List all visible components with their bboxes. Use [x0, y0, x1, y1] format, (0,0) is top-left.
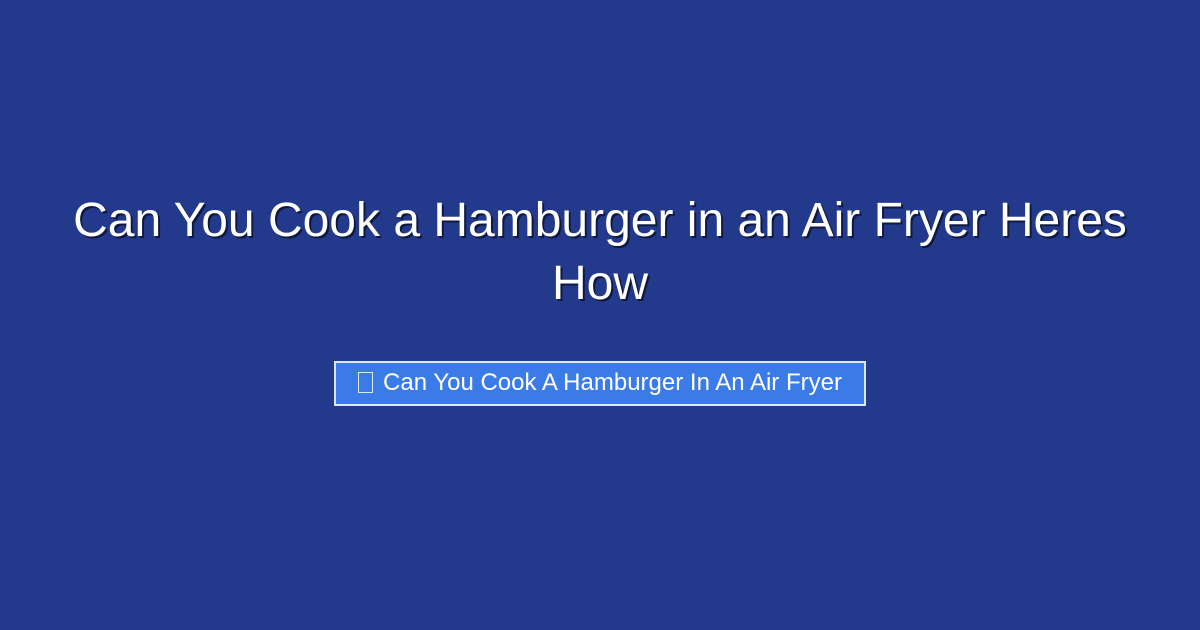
- card-content: Can You Cook a Hamburger in an Air Fryer…: [40, 189, 1160, 406]
- topic-badge-label: Can You Cook A Hamburger In An Air Fryer: [383, 371, 842, 395]
- open-graph-card: Can You Cook a Hamburger in an Air Fryer…: [0, 0, 1200, 630]
- missing-glyph-box-icon: [358, 372, 373, 393]
- page-title: Can You Cook a Hamburger in an Air Fryer…: [60, 189, 1140, 315]
- badge-container: Can You Cook A Hamburger In An Air Fryer: [40, 361, 1160, 406]
- topic-badge[interactable]: Can You Cook A Hamburger In An Air Fryer: [334, 361, 866, 406]
